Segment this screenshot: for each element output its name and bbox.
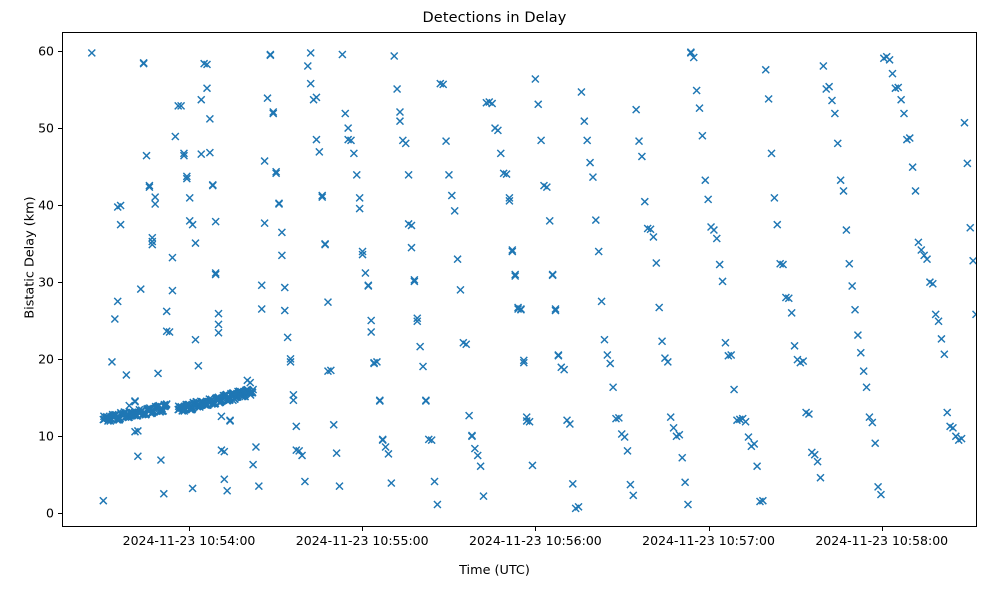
plot-area	[62, 32, 977, 527]
y-tick-mark	[58, 51, 62, 52]
y-tick-mark	[58, 513, 62, 514]
y-tick-mark	[58, 282, 62, 283]
figure: Detections in Delay Bistatic Delay (km) …	[0, 0, 989, 590]
y-tick-label: 0	[46, 506, 54, 521]
scatter-canvas	[63, 33, 976, 526]
x-tick-mark	[535, 527, 536, 531]
x-tick-label: 2024-11-23 10:56:00	[469, 533, 602, 548]
page-title: Detections in Delay	[0, 10, 989, 26]
y-tick-label: 20	[38, 352, 54, 367]
x-tick-label: 2024-11-23 10:57:00	[642, 533, 775, 548]
y-tick-mark	[58, 128, 62, 129]
x-tick-label: 2024-11-23 10:54:00	[123, 533, 256, 548]
y-tick-mark	[58, 359, 62, 360]
x-axis-label: Time (UTC)	[0, 563, 989, 578]
y-tick-label: 40	[38, 198, 54, 213]
y-tick-mark	[58, 205, 62, 206]
x-tick-mark	[709, 527, 710, 531]
y-tick-label: 30	[38, 275, 54, 290]
y-tick-label: 10	[38, 429, 54, 444]
x-tick-label: 2024-11-23 10:55:00	[296, 533, 429, 548]
y-tick-label-group: 0102030405060	[0, 0, 54, 590]
y-tick-label: 60	[38, 44, 54, 59]
x-tick-label: 2024-11-23 10:58:00	[815, 533, 948, 548]
y-tick-mark	[58, 436, 62, 437]
x-tick-mark	[189, 527, 190, 531]
x-tick-mark	[362, 527, 363, 531]
y-tick-label: 50	[38, 121, 54, 136]
x-tick-mark	[882, 527, 883, 531]
